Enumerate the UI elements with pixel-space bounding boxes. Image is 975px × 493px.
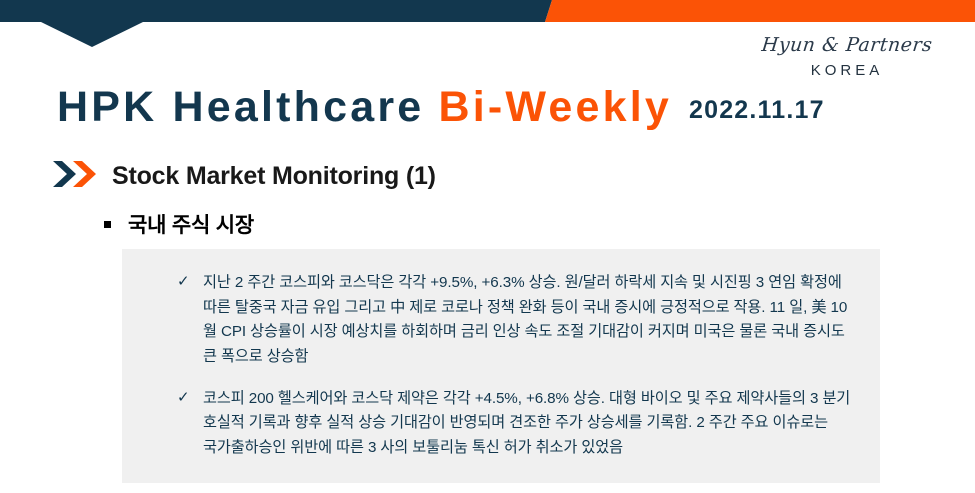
list-item-text: 코스피 200 헬스케어와 코스닥 제약은 각각 +4.5%, +6.8% 상승… — [203, 387, 852, 461]
square-bullet-icon — [104, 221, 111, 228]
page-title: HPK Healthcare Bi-Weekly 2022.11.17 — [57, 86, 825, 129]
list-item: ✓ 지난 2 주간 코스피와 코스닥은 각각 +9.5%, +6.3% 상승. … — [122, 271, 852, 370]
title-main-navy: HPK Healthcare — [57, 86, 424, 129]
brand-logo: Hyun & Partners KOREA — [747, 36, 947, 79]
title-date: 2022.11.17 — [689, 96, 825, 125]
list-item-text: 지난 2 주간 코스피와 코스닥은 각각 +9.5%, +6.3% 상승. 원/… — [203, 271, 852, 370]
check-icon: ✓ — [177, 273, 197, 291]
double-chevron-right-icon — [52, 160, 98, 193]
list-item: ✓ 코스피 200 헬스케어와 코스닥 제약은 각각 +4.5%, +6.8% … — [122, 387, 852, 461]
header-navy-shape — [0, 0, 552, 47]
brand-korea-text: KOREA — [747, 62, 947, 79]
sub-heading-label: 국내 주식 시장 — [128, 209, 254, 239]
brand-script-text: Hyun & Partners — [746, 36, 948, 55]
section-heading: Stock Market Monitoring (1) — [52, 160, 436, 193]
sub-heading: 국내 주식 시장 — [104, 209, 254, 239]
title-main-orange: Bi-Weekly — [438, 86, 672, 129]
check-icon: ✓ — [177, 389, 197, 407]
header-orange-shape — [545, 0, 975, 22]
content-panel: ✓ 지난 2 주간 코스피와 코스닥은 각각 +9.5%, +6.3% 상승. … — [122, 249, 880, 483]
section-heading-label: Stock Market Monitoring (1) — [112, 162, 436, 191]
